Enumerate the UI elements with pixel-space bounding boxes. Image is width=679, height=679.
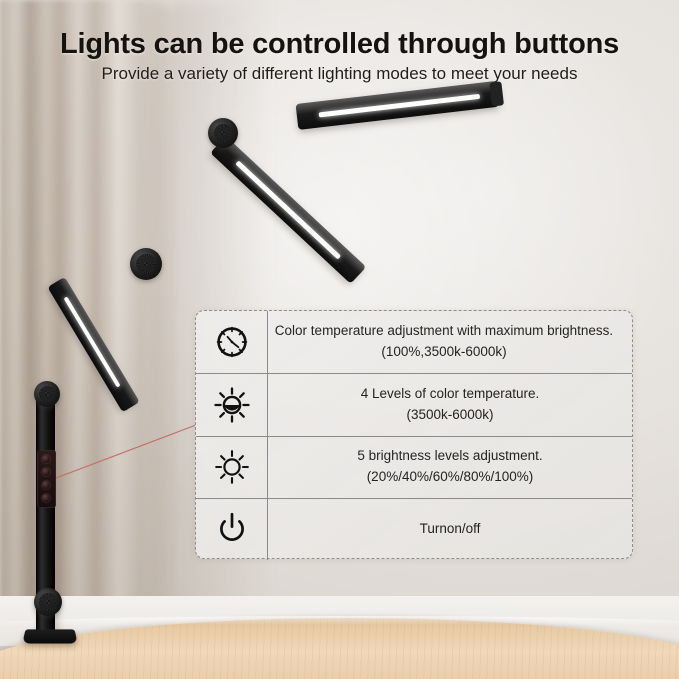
lamp-joint-lower — [34, 381, 60, 407]
lamp-button-3[interactable] — [42, 481, 50, 489]
lamp-button-2[interactable] — [42, 468, 50, 476]
row-line-1: 4 Levels of color temperature. — [361, 384, 540, 405]
lamp-head — [296, 81, 500, 130]
row-line-2: (20%/40%/60%/80%/100%) — [367, 467, 534, 488]
lamp-lower-arm — [47, 277, 139, 412]
row-line-2: (3500k-6000k) — [406, 405, 493, 426]
row-line-1: 5 brightness levels adjustment. — [357, 446, 542, 467]
lamp-upper-arm-led — [235, 160, 341, 259]
row-line-2: (100%,3500k-6000k) — [381, 342, 506, 363]
lamp-button-1[interactable] — [42, 455, 50, 463]
clock-icon — [196, 311, 268, 373]
table-row-text: 5 brightness levels adjustment. (20%/40%… — [268, 437, 632, 498]
lamp-joint-base — [34, 588, 62, 616]
product-infographic: Lights can be controlled through buttons… — [0, 0, 679, 679]
feature-table: Color temperature adjustment with maximu… — [195, 310, 633, 559]
lamp-lower-arm-led — [64, 296, 121, 387]
lamp-joint-top — [208, 118, 238, 148]
row-line-1: Color temperature adjustment with maximu… — [275, 321, 613, 342]
lamp-upper-arm — [210, 136, 366, 284]
lamp-clamp-base — [22, 629, 77, 643]
lamp-control-button-panel[interactable] — [37, 450, 56, 508]
lamp-head-end-cap — [489, 81, 504, 106]
table-row: Turnon/off — [196, 498, 632, 560]
row-line-1: Turnon/off — [420, 519, 481, 540]
lamp-joint-middle — [130, 248, 162, 280]
table-row-text: Color temperature adjustment with maximu… — [268, 311, 632, 373]
table-row: 4 Levels of color temperature. (3500k-60… — [196, 373, 632, 435]
power-icon — [196, 499, 268, 560]
lamp-lower-arm-sheen — [57, 277, 139, 406]
lamp-upper-arm-sheen — [219, 136, 366, 274]
table-row-text: Turnon/off — [268, 499, 632, 560]
sun-half-filled-icon — [196, 374, 268, 435]
sun-outline-icon — [196, 437, 268, 498]
table-row-text: 4 Levels of color temperature. (3500k-60… — [268, 374, 632, 435]
lamp-button-4[interactable] — [42, 494, 50, 502]
table-row: Color temperature adjustment with maximu… — [196, 311, 632, 373]
table-row: 5 brightness levels adjustment. (20%/40%… — [196, 436, 632, 498]
